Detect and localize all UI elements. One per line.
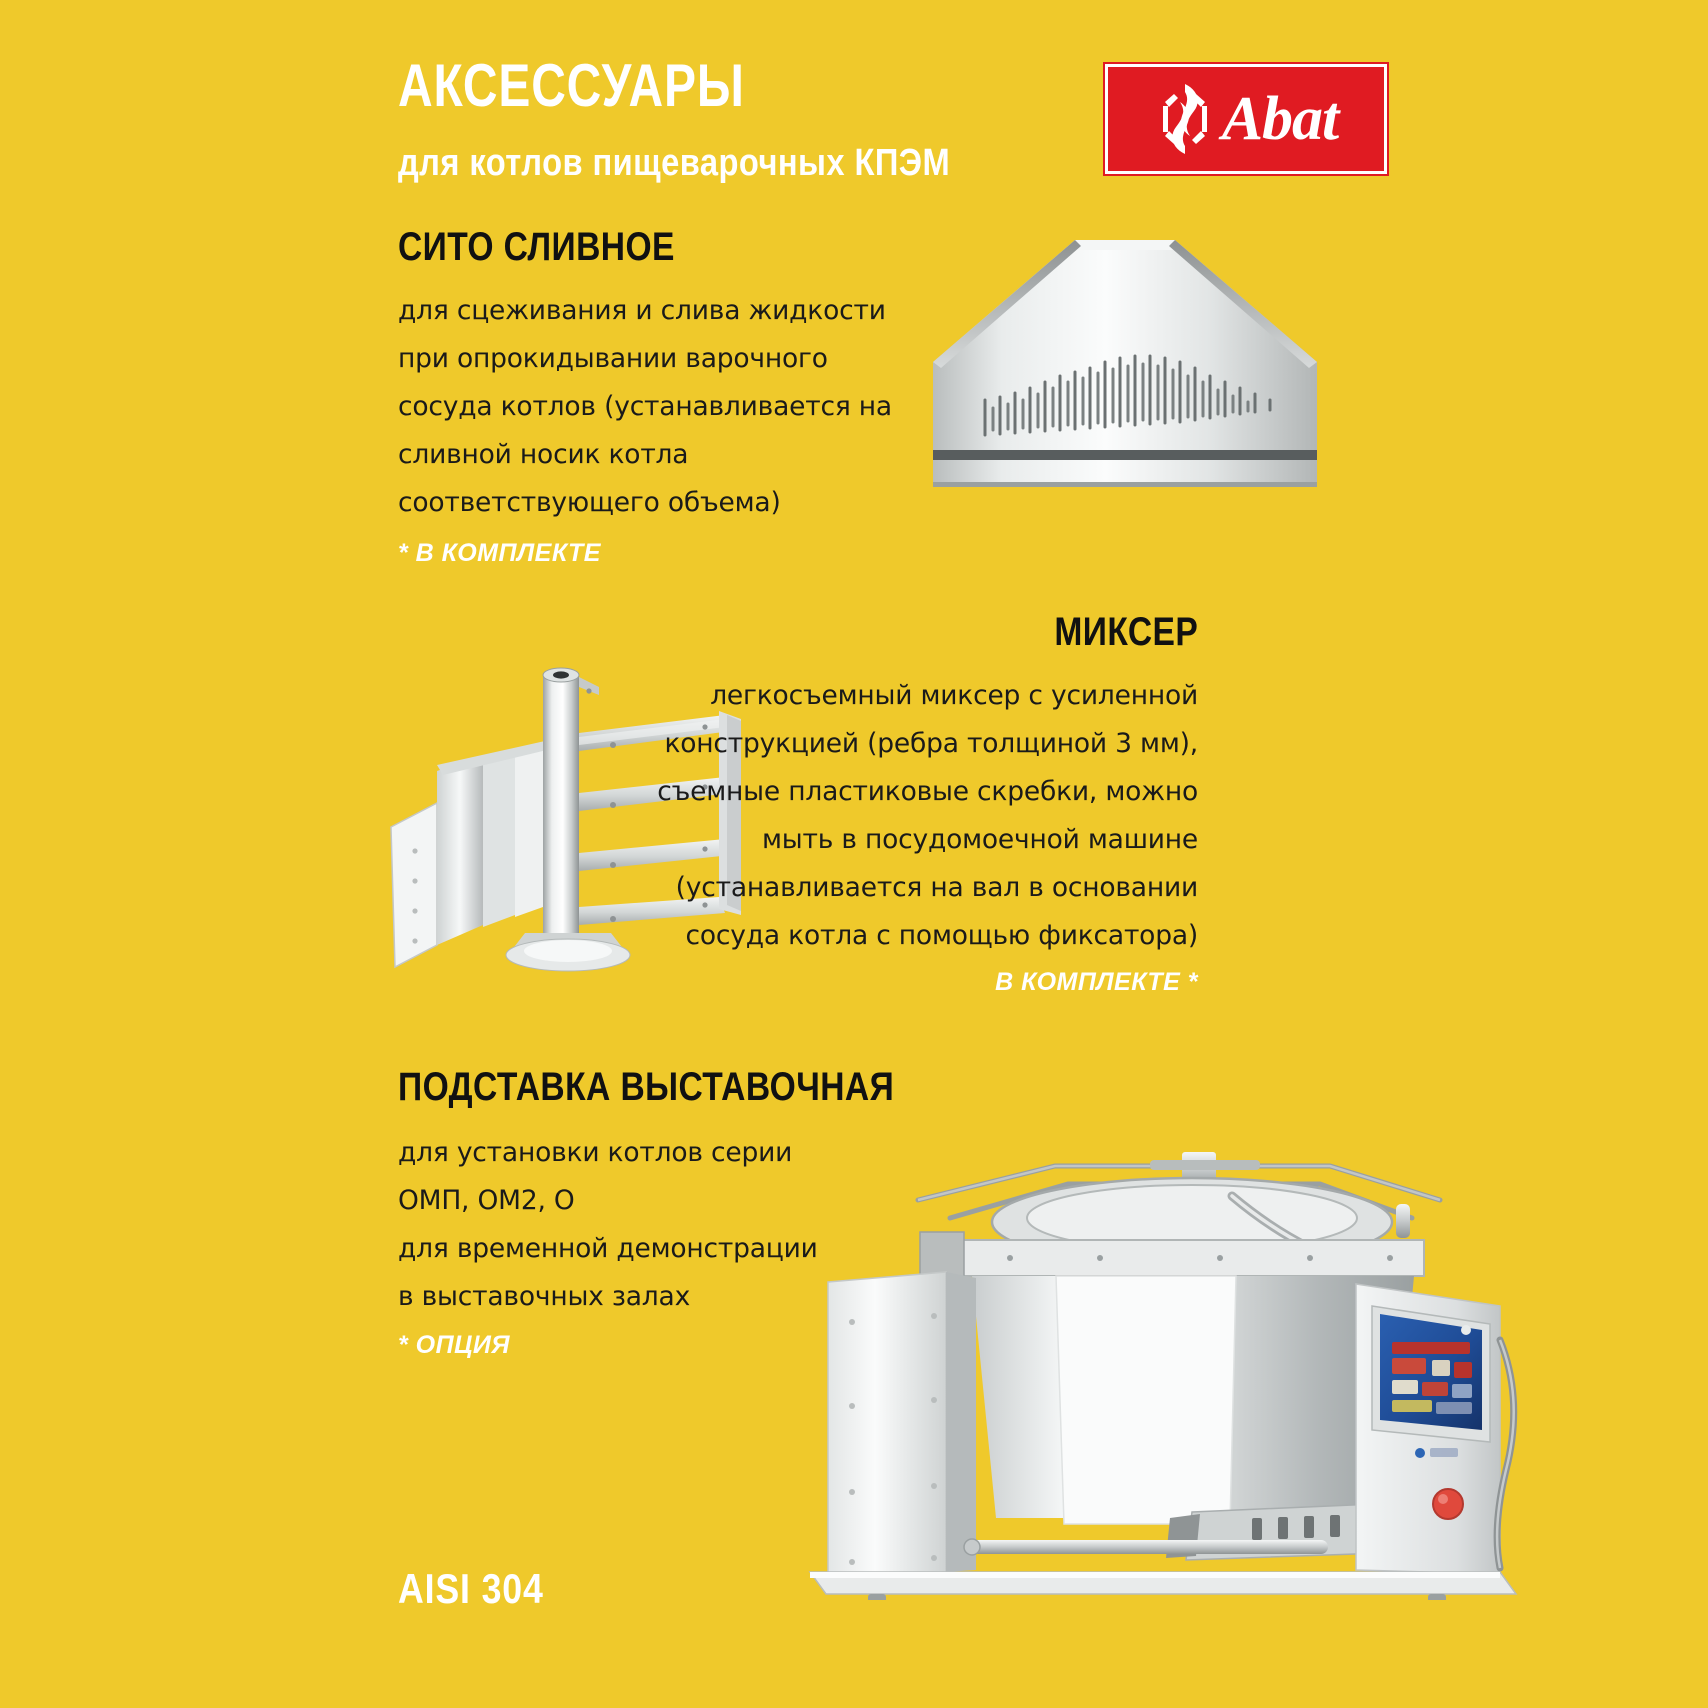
drain-sieve-photo: [925, 230, 1325, 500]
page-title: АКСЕССУАРЫ: [398, 55, 1006, 117]
section-sieve-note: * В КОМПЛЕКТЕ: [398, 533, 918, 573]
section-stand-title: ПОДСТАВКА ВЫСТАВОЧНАЯ: [398, 1065, 793, 1109]
section-stand-line-4: в выставочных залах: [398, 1273, 868, 1321]
abat-logo: Abat: [1105, 64, 1387, 174]
poster-canvas: АКСЕССУАРЫ для котлов пищеварочных КПЭМ: [0, 0, 1708, 1708]
section-stand: ПОДСТАВКА ВЫСТАВОЧНАЯ для установки котл…: [398, 1065, 868, 1365]
section-stand-line-3: для временной демонстрации: [398, 1225, 868, 1273]
section-mixer-note: В КОМПЛЕКТЕ *: [598, 962, 1198, 1002]
logo-wordmark: Abat: [1222, 88, 1339, 150]
material-label: AISI 304: [398, 1565, 544, 1613]
section-mixer-title: МИКСЕР: [1054, 610, 1198, 654]
section-stand-body: для установки котлов серии ОМП, ОМ2, О д…: [398, 1129, 868, 1321]
page-subtitle: для котлов пищеварочных КПЭМ: [398, 143, 1052, 183]
section-stand-line-2: ОМП, ОМ2, О: [398, 1177, 868, 1225]
section-stand-line-1: для установки котлов серии: [398, 1129, 868, 1177]
section-sieve-body: для сцеживания и слива жидкости при опро…: [398, 287, 918, 527]
section-stand-note: * ОПЦИЯ: [398, 1325, 868, 1365]
flame-s-icon: [1154, 80, 1216, 158]
exhibition-stand-kettle-photo: [800, 1100, 1520, 1600]
header: АКСЕССУАРЫ для котлов пищеварочных КПЭМ: [398, 55, 1158, 183]
section-mixer: МИКСЕР легкосъемный миксер с усиленной к…: [598, 610, 1198, 1002]
section-sieve: СИТО СЛИВНОЕ для сцеживания и слива жидк…: [398, 225, 918, 573]
section-mixer-body: легкосъемный миксер с усиленной конструк…: [598, 672, 1198, 960]
section-sieve-title: СИТО СЛИВНОЕ: [398, 225, 835, 269]
